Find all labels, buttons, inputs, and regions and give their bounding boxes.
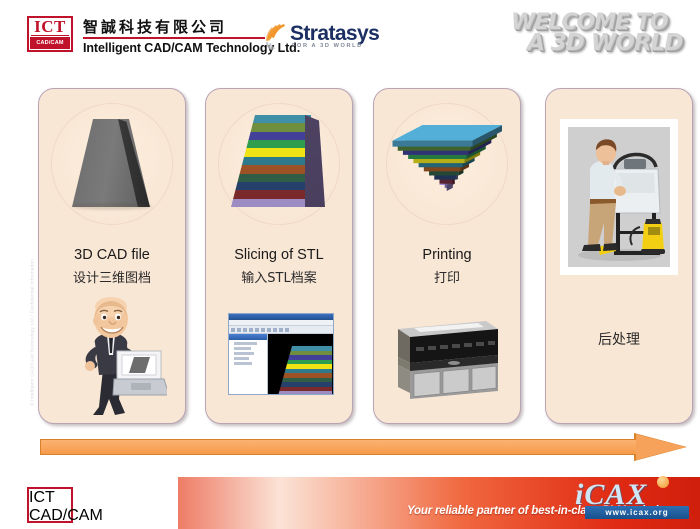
slide-root: ICT CAD/CAM 智誠科技有限公司 Intelligent CAD/CAM… (0, 0, 700, 529)
3d-printer-photo-icon (390, 307, 502, 399)
stratasys-swoosh-icon (262, 23, 288, 51)
company-name-rule (83, 37, 265, 39)
sw-body (229, 334, 333, 395)
card-subtitle: 打印 (374, 267, 520, 286)
stacked-layers-3d-model-icon (392, 107, 502, 211)
slicing-software-screenshot-icon (228, 313, 334, 395)
icax-dot-icon (657, 476, 669, 488)
card-title: Slicing of STL (206, 247, 352, 263)
sw-sliced-model (278, 346, 332, 395)
ict-logo-icon: ICT CAD/CAM (27, 16, 73, 52)
card-slicing-of-stl[interactable]: Slicing of STL 输入STL档案 (205, 88, 353, 424)
card-title: 3D CAD file (39, 247, 185, 263)
process-cards: 3D CAD file 设计三维图档 (0, 88, 700, 428)
card-printing[interactable]: Printing 打印 (373, 88, 521, 424)
card-subtitle: 后处理 (546, 329, 692, 349)
footer-ict-mark: ICT (29, 489, 71, 507)
footer-top-rule (0, 475, 700, 477)
sw-tree-panel (229, 334, 268, 395)
iso-stack-svg (392, 107, 502, 211)
process-flow-arrow-icon (40, 434, 688, 460)
card-subtitle: 设计三维图档 (39, 267, 185, 286)
slide-header: ICT CAD/CAM 智誠科技有限公司 Intelligent CAD/CAM… (0, 0, 700, 72)
post-processing-station-photo-icon (568, 127, 670, 267)
gray-trapezoid-model-icon (66, 111, 158, 211)
arrow-shaft (40, 439, 640, 455)
welcome-title: WELCOME TO A 3D WORLD (505, 8, 691, 64)
sliced-side-face (305, 115, 325, 207)
stratasys-logo: Stratasys FOR A 3D WORLD (262, 21, 382, 55)
stratasys-tagline: FOR A 3D WORLD (292, 43, 363, 49)
card-post-processing[interactable]: 后处理 (545, 88, 693, 424)
sw-toolbar (229, 326, 333, 334)
card-subtitle: 输入STL档案 (206, 267, 352, 286)
card-title: Printing (374, 247, 520, 263)
card-3d-cad-file[interactable]: 3D CAD file 设计三维图档 (38, 88, 186, 424)
ict-logo-mark: ICT (29, 18, 71, 35)
icax-url: www.icax.org (585, 506, 689, 519)
trapezoid-shadow (72, 203, 152, 210)
footer-ict-logo-icon: ICT CAD/CAM (27, 487, 73, 523)
sw-3d-viewport (268, 334, 333, 395)
ict-logo-divider (31, 35, 69, 36)
footer-ict-sub: CAD/CAM (29, 507, 71, 525)
welcome-line-2: A 3D WORLD (527, 30, 682, 56)
ict-logo-sub: CAD/CAM (30, 37, 70, 49)
arrow-head (636, 434, 686, 460)
businessman-with-laptop-icon (59, 295, 167, 417)
sliced-front-face (231, 115, 311, 207)
company-name-cn: 智誠科技有限公司 (83, 16, 227, 37)
post-processing-photo-frame (560, 119, 678, 275)
icax-logo[interactable]: iCAX www.icax.org (575, 478, 693, 524)
sliced-trapezoid-model-icon (229, 109, 329, 213)
